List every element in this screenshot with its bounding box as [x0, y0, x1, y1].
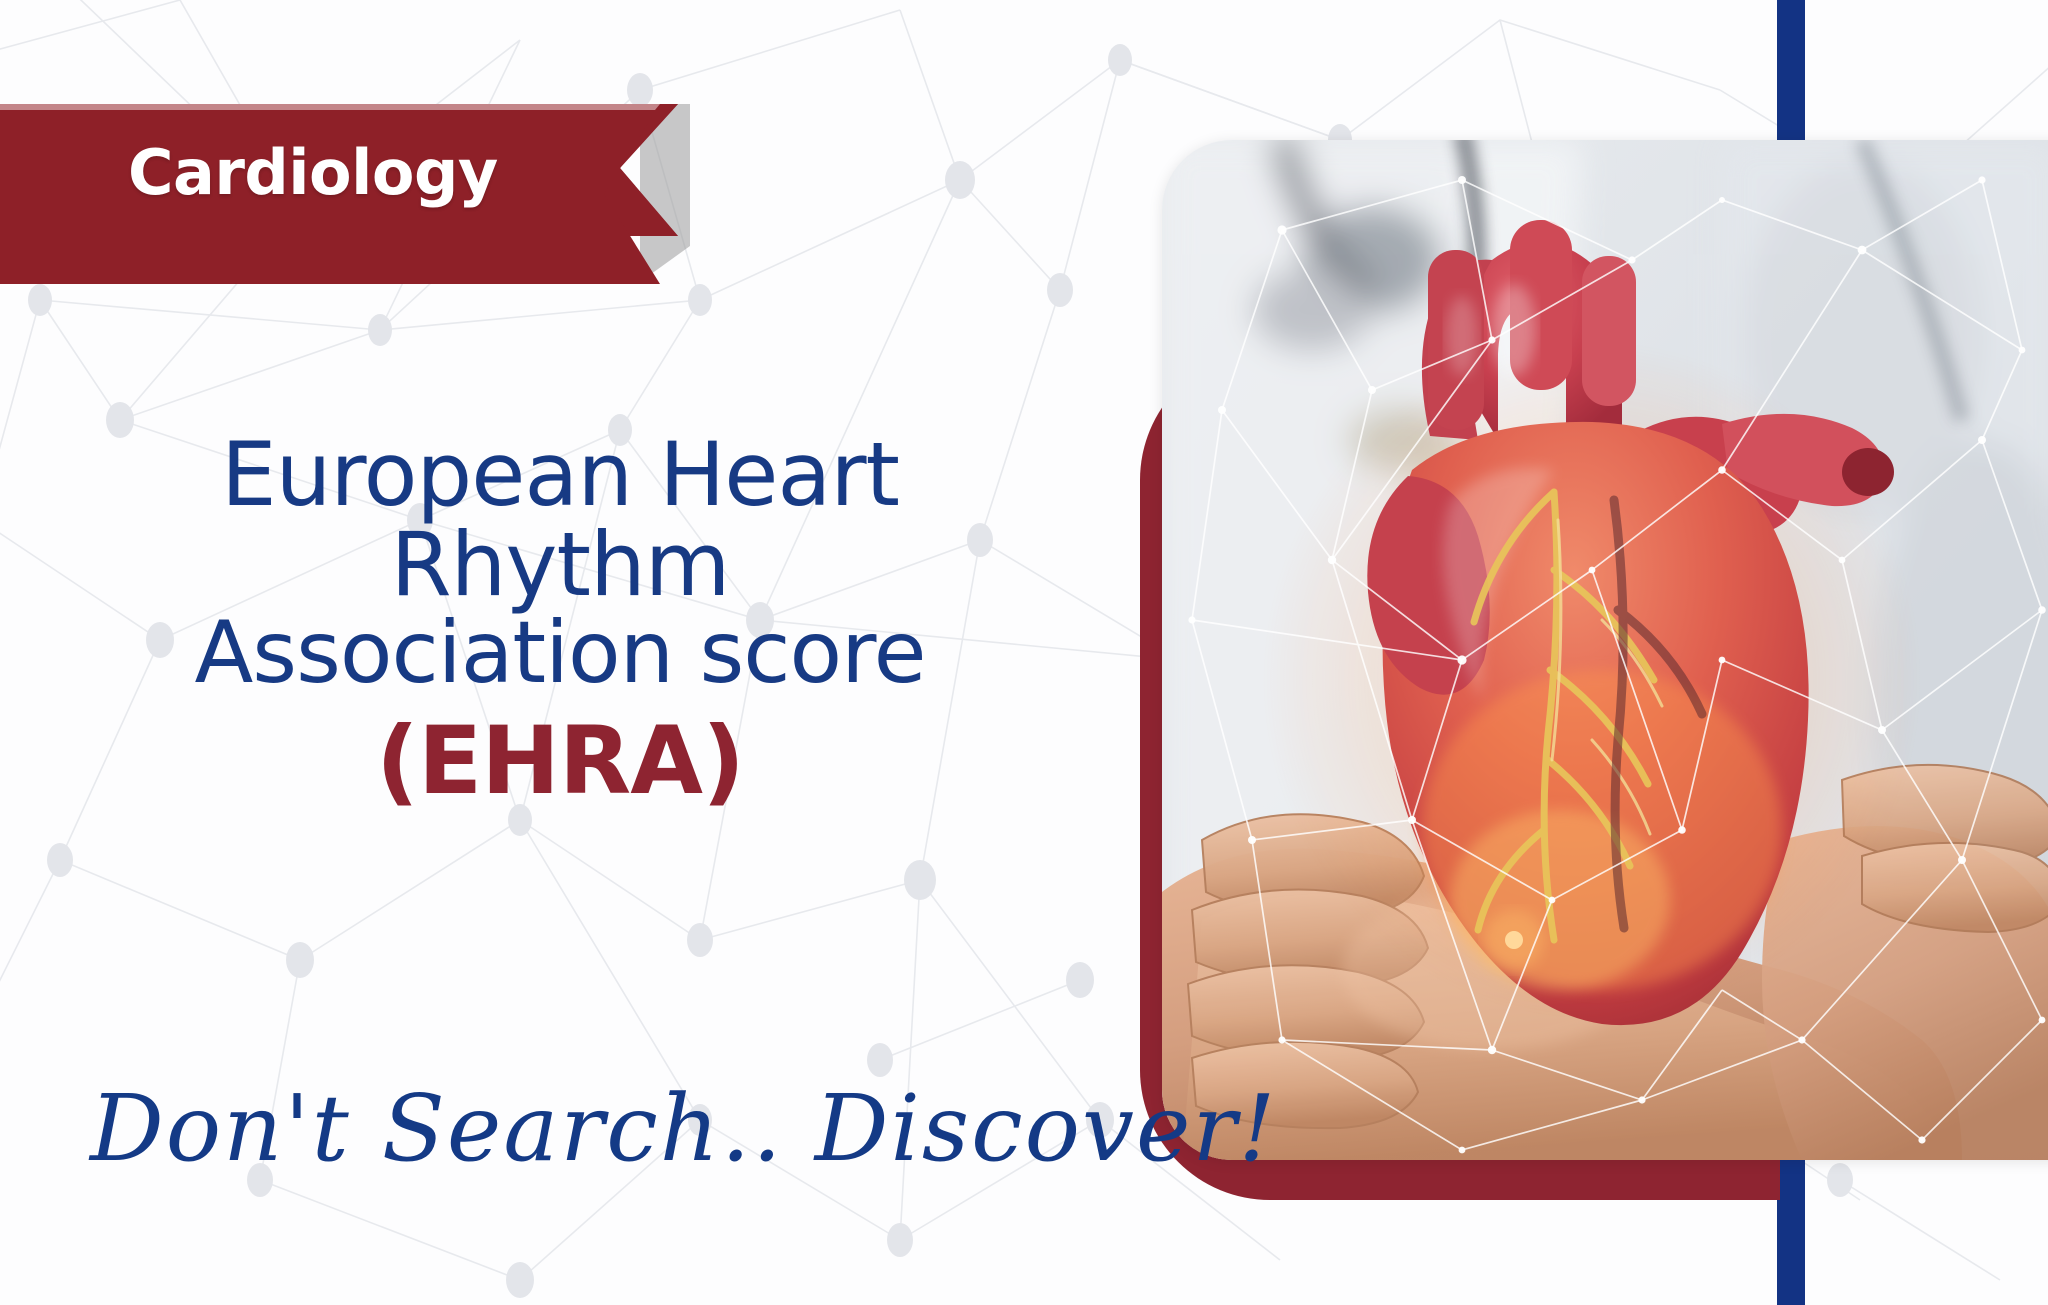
- heart-photo-frame: [1162, 140, 2048, 1160]
- title-abbreviation: (EHRA): [60, 707, 1060, 816]
- tagline-text: Don't Search.. Discover!: [88, 1075, 1277, 1182]
- title-line-3: Association score: [60, 610, 1060, 698]
- title-line-1: European Heart: [60, 430, 1060, 520]
- heart-in-hands-photo: [1162, 140, 2048, 1160]
- title-line-2: Rhythm: [60, 520, 1060, 610]
- slide-canvas: Cardiology European Heart Rhythm Associa…: [0, 0, 2048, 1305]
- tagline-block: Don't Search.. Discover!: [90, 1052, 1090, 1202]
- photo-panel: [1140, 140, 2048, 1200]
- tagline-svg: Don't Search.. Discover!: [90, 1052, 1070, 1202]
- headline-block: European Heart Rhythm Association score …: [60, 430, 1060, 816]
- ribbon-label: Cardiology: [128, 136, 498, 209]
- cardiology-ribbon: Cardiology: [0, 96, 720, 296]
